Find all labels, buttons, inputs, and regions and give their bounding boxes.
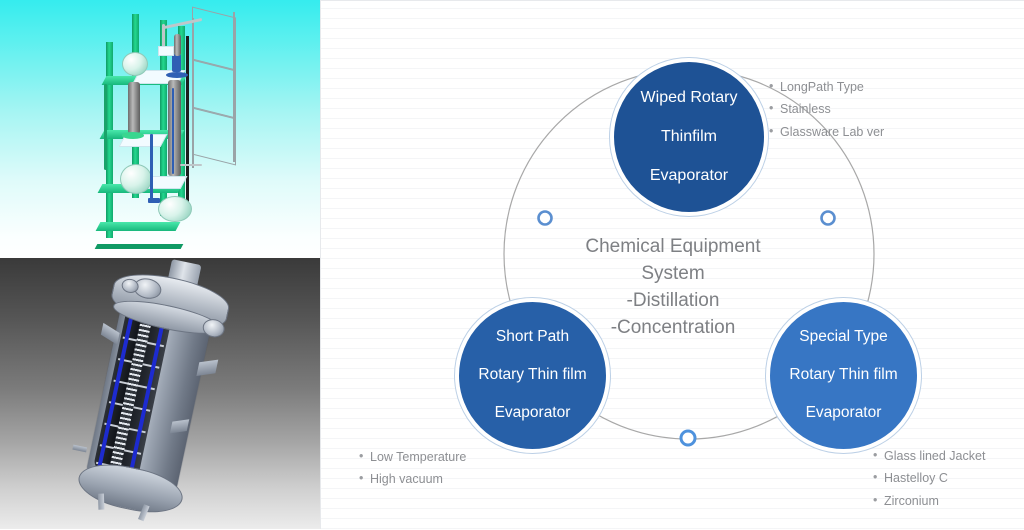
node-top-label: Wiped Rotary Thinfilm Evaporator <box>629 88 750 186</box>
pipe-blue-riser <box>150 134 153 200</box>
frame-post-front-left <box>106 42 113 238</box>
level-gauge <box>104 84 107 170</box>
diagram-panel: Wiped Rotary Thinfilm Evaporator Short P… <box>320 0 1024 529</box>
column-sight-glass <box>172 88 174 174</box>
column-left <box>128 82 140 134</box>
flask-lower-left <box>120 164 152 194</box>
drive-flange <box>166 72 188 78</box>
cage-post-right <box>233 12 235 162</box>
node-left-line3: Evaporator <box>472 404 592 423</box>
photo-stainless-evaporator-cutaway <box>0 258 320 529</box>
valve-box <box>158 46 174 56</box>
bullet-group-wiped-rotary-features: LongPath Type Stainless Glassware Lab ve… <box>769 76 884 143</box>
support-lug-right <box>196 360 218 376</box>
drain-nozzle <box>72 445 87 453</box>
vessel-foot-left <box>98 494 105 510</box>
drive-shaft <box>174 34 181 56</box>
node-wiped-rotary-thinfilm-evaporator[interactable]: Wiped Rotary Thinfilm Evaporator <box>610 58 768 216</box>
center-text-line3: -Distillation <box>553 288 793 315</box>
shelf-base <box>96 222 181 231</box>
drive-motor <box>172 54 181 72</box>
node-left-line2: Rotary Thin film <box>472 366 592 385</box>
bullet-item: Zirconium <box>873 490 985 512</box>
valve-blue-lower <box>148 198 160 203</box>
pipe-downcomer <box>162 24 165 48</box>
node-right-line2: Rotary Thin film <box>783 366 903 385</box>
cage-panel-3 <box>192 107 236 166</box>
support-post-black <box>186 36 189 216</box>
node-top-line2: Thinfilm <box>635 127 744 147</box>
bullet-group-short-path-features: Low Temperature High vacuum <box>359 446 466 491</box>
center-text-line2: System <box>553 261 793 288</box>
node-right-line1: Special Type <box>783 328 903 347</box>
bullet-item: Stainless <box>769 98 884 120</box>
bullet-item: Low Temperature <box>359 446 466 468</box>
bullet-item: Hastelloy C <box>873 467 985 489</box>
node-top-line3: Evaporator <box>635 166 744 186</box>
bullet-item: Glassware Lab ver <box>769 121 884 143</box>
bullet-group-special-type-features: Glass lined Jacket Hastelloy C Zirconium <box>873 445 985 512</box>
node-left-label: Short Path Rotary Thin film Evaporator <box>466 328 598 423</box>
center-text-line1: Chemical Equipment <box>553 234 793 261</box>
bullet-item: LongPath Type <box>769 76 884 98</box>
cad-render-green-skid <box>88 8 248 253</box>
diagram-center-text: Chemical Equipment System -Distillation … <box>553 234 793 342</box>
green-clamp <box>122 132 144 139</box>
photo-lab-scale-evaporator-skid <box>0 0 320 258</box>
node-right-label: Special Type Rotary Thin film Evaporator <box>777 328 909 423</box>
image-column <box>0 0 320 529</box>
bullet-item: High vacuum <box>359 468 466 490</box>
cad-render-stainless-vessel <box>46 258 280 529</box>
frame-foot-rail <box>95 244 184 249</box>
column-right <box>168 80 181 176</box>
center-text-line4: -Concentration <box>553 315 793 342</box>
connector-node-left[interactable] <box>539 212 552 225</box>
connector-node-bottom[interactable] <box>681 431 695 445</box>
pipe-side-branch <box>180 164 202 166</box>
bullet-item: Glass lined Jacket <box>873 445 985 467</box>
connector-node-right[interactable] <box>822 212 835 225</box>
node-top-line1: Wiped Rotary <box>635 88 744 108</box>
flask-lower-right <box>158 196 192 222</box>
node-right-line3: Evaporator <box>783 404 903 423</box>
slide-root: Wiped Rotary Thinfilm Evaporator Short P… <box>0 0 1024 529</box>
cage-post-left <box>192 18 194 168</box>
flask-upper <box>122 52 148 76</box>
